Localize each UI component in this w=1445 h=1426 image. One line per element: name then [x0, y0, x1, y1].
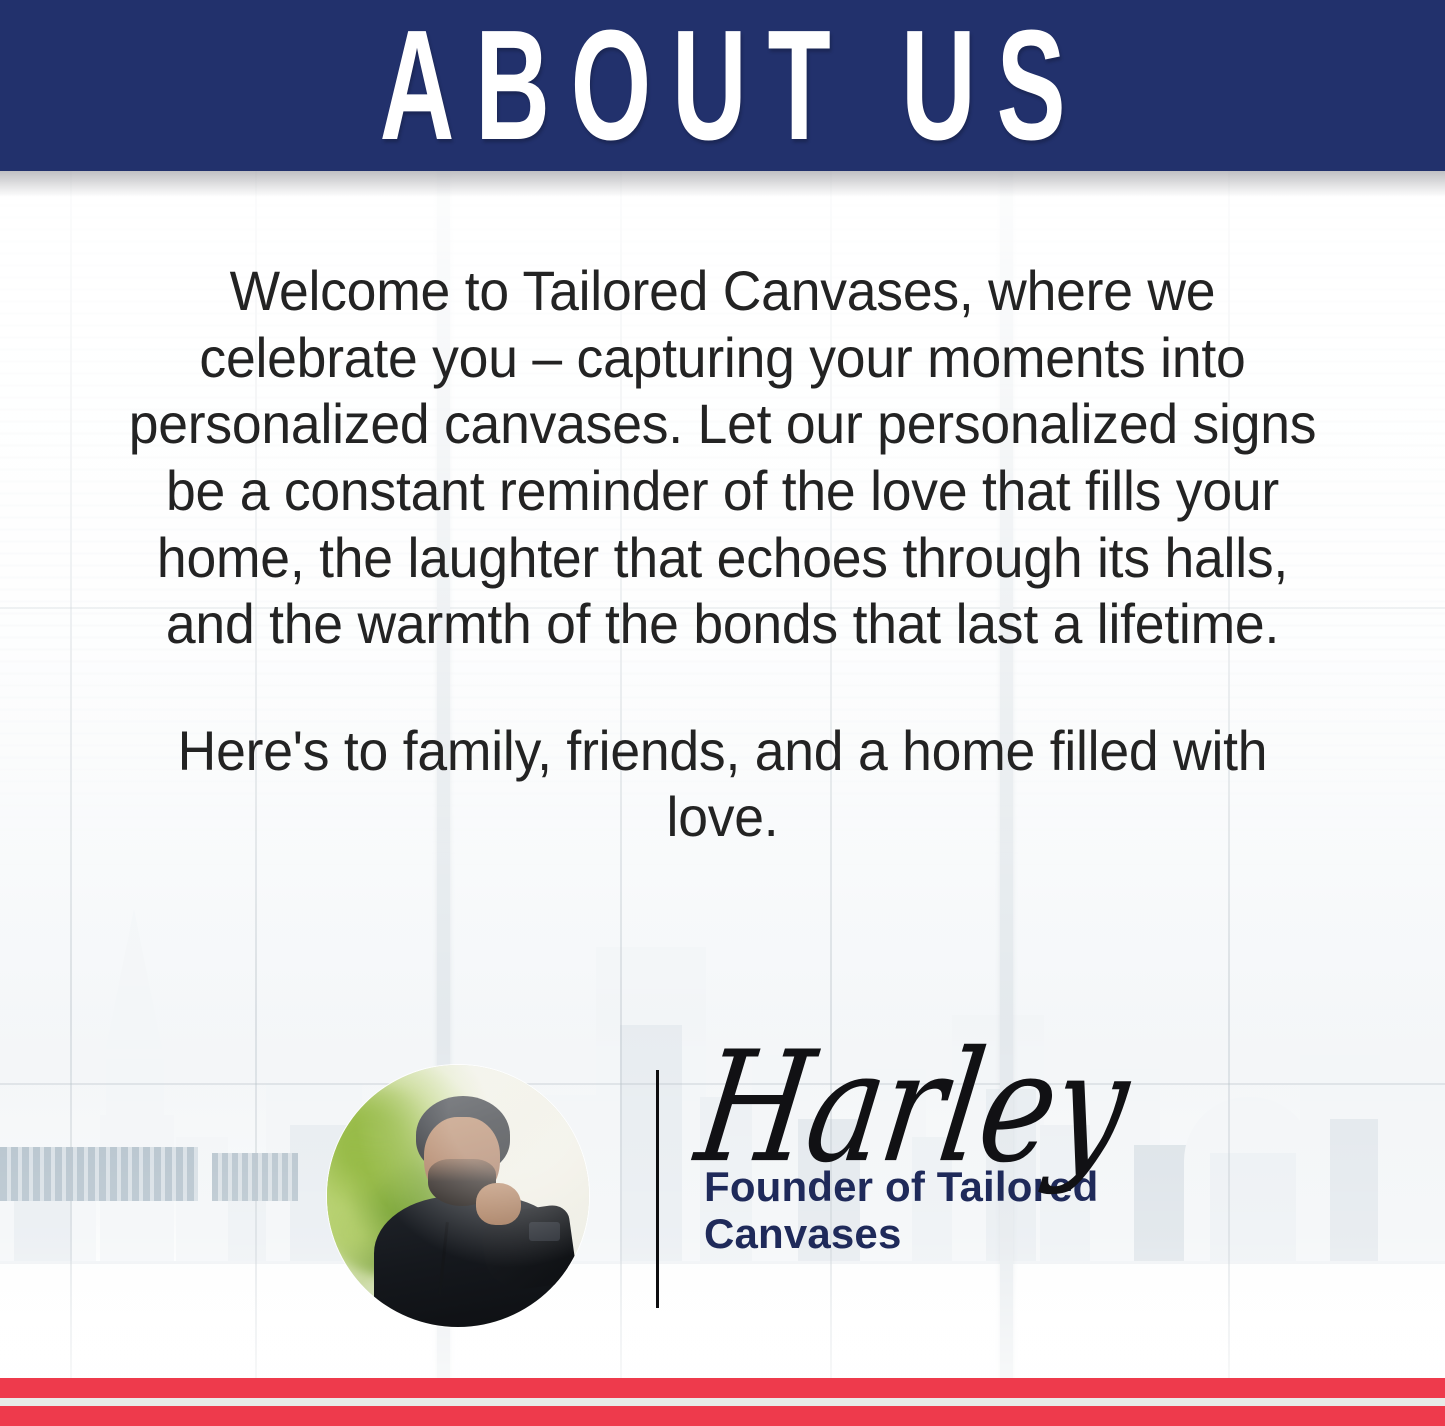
about-paragraph-2: Here's to family, friends, and a home fi… — [33, 718, 1413, 851]
founder-role-line-2: Canvases — [704, 1210, 901, 1257]
avatar — [327, 1065, 589, 1327]
signature-divider — [656, 1070, 659, 1308]
footer-accent-bar-bottom — [0, 1406, 1445, 1426]
page-title: ABOUT US — [359, 7, 1086, 164]
about-paragraph-1: Welcome to Tailored Canvases, where we c… — [33, 258, 1413, 658]
founder-signature-name: Harley — [690, 1038, 1167, 1179]
page-footer — [0, 1378, 1445, 1426]
about-us-page: ABOUT US Welcome to Tailored Canvases, w… — [0, 0, 1445, 1426]
about-copy: Welcome to Tailored Canvases, where we c… — [33, 258, 1413, 851]
signature-text-group: Harley Founder of Tailored Canvases — [676, 1048, 1176, 1258]
footer-bar-gap — [0, 1398, 1445, 1406]
page-header: ABOUT US — [0, 0, 1445, 171]
footer-accent-bar-top — [0, 1378, 1445, 1398]
founder-portrait-image — [327, 1065, 589, 1327]
paragraph-spacer — [33, 658, 1413, 718]
